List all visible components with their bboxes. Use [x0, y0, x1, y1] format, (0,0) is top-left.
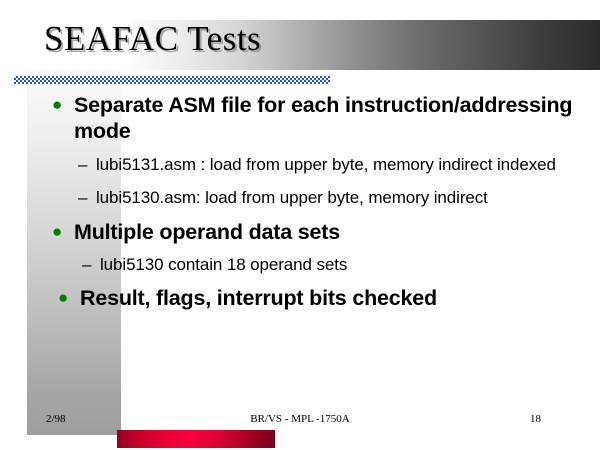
- slide-footer: 2/98 BR/VS - MPL -1750A 18: [0, 411, 600, 431]
- title-divider: [14, 76, 330, 84]
- page-title: SEAFAC Tests: [44, 19, 261, 59]
- bullet-item-6: ● Result, flags, interrupt bits checked: [0, 285, 600, 311]
- bullet-item-4: ● Multiple operand data sets: [0, 219, 600, 245]
- bullet-dot-icon: ●: [52, 92, 74, 118]
- spacer: [0, 211, 600, 219]
- bullet-text: lubi5131.asm : load from upper byte, mem…: [96, 153, 556, 177]
- bullet-text: Separate ASM file for each instruction/a…: [74, 92, 600, 144]
- bullet-text: lubi5130 contain 18 operand sets: [100, 253, 347, 277]
- bullet-text: lubi5130.asm: load from upper byte, memo…: [96, 186, 488, 210]
- bullet-item-1: ● Separate ASM file for each instruction…: [0, 92, 600, 144]
- dash-marker-icon: –: [78, 153, 96, 177]
- slide-content: ● Separate ASM file for each instruction…: [0, 92, 600, 313]
- dash-marker-icon: –: [82, 253, 100, 277]
- spacer: [0, 278, 600, 285]
- bullet-item-5: – lubi5130 contain 18 operand sets: [0, 253, 600, 277]
- spacer: [0, 178, 600, 186]
- bottom-accent-bar: [117, 430, 275, 448]
- spacer: [0, 146, 600, 153]
- dash-marker-icon: –: [78, 186, 96, 210]
- bullet-item-2: – lubi5131.asm : load from upper byte, m…: [0, 153, 600, 177]
- bullet-text: Multiple operand data sets: [74, 219, 340, 245]
- bullet-dot-icon: ●: [58, 285, 80, 311]
- footer-title: BR/VS - MPL -1750A: [0, 413, 600, 425]
- bullet-dot-icon: ●: [52, 219, 74, 245]
- bullet-text: Result, flags, interrupt bits checked: [80, 285, 437, 311]
- footer-page-number: 18: [530, 413, 541, 425]
- bullet-item-3: – lubi5130.asm: load from upper byte, me…: [0, 186, 600, 210]
